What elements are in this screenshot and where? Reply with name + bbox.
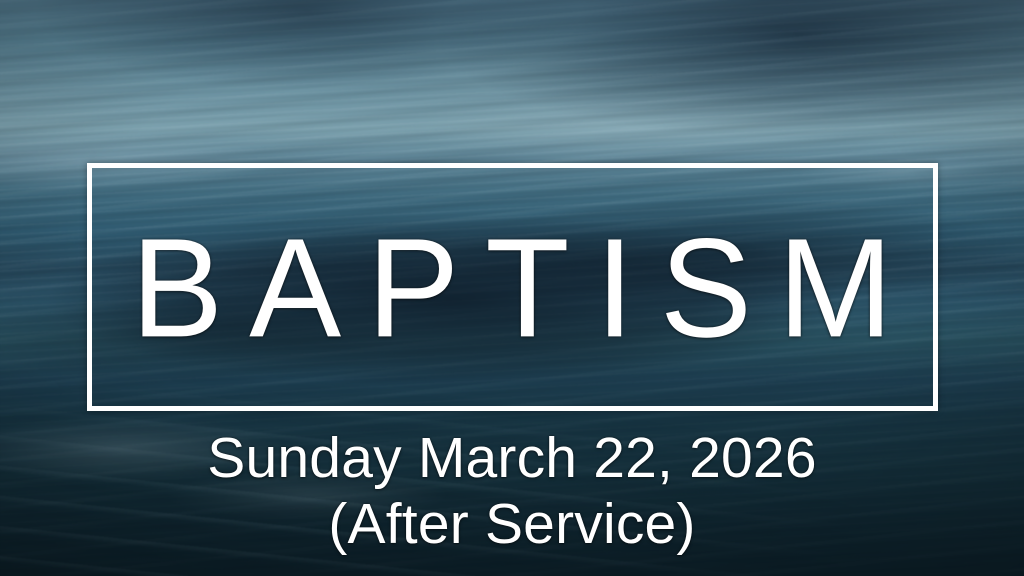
event-date-line: Sunday March 22, 2026 [0,425,1024,491]
baptism-announcement-slide: BAPTISM Sunday March 22, 2026 (After Ser… [0,0,1024,576]
event-details: Sunday March 22, 2026 (After Service) [0,425,1024,557]
event-note-line: (After Service) [0,491,1024,557]
page-title: BAPTISM [0,218,1024,359]
